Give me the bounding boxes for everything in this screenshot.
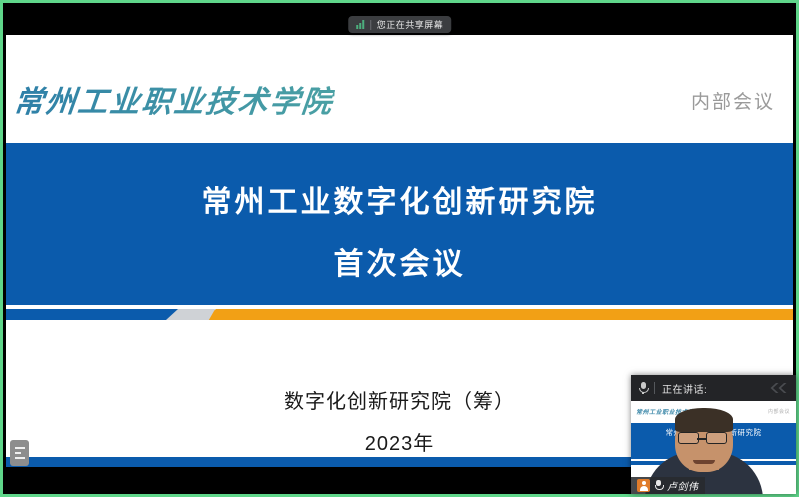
stripe-segment-blue: [6, 309, 178, 320]
decorative-stripe: [6, 309, 793, 320]
stripe-segment-orange: [202, 309, 793, 320]
annotation-panel-icon[interactable]: [10, 440, 29, 466]
participant-avatar-icon: [637, 479, 650, 492]
header-divider: [654, 382, 655, 394]
microphone-icon[interactable]: [655, 480, 662, 491]
thumbnail-meeting-tag: 内部会议: [768, 408, 790, 415]
slide-title: 常州工业数字化创新研究院: [6, 177, 793, 221]
toolbar-line-1: [15, 447, 25, 449]
slide-subtitle: 首次会议: [6, 239, 793, 283]
microphone-icon: [639, 382, 647, 394]
screen-share-status-text: 您正在共享屏幕: [377, 18, 444, 31]
slide-header: 常州工业职业技术学院 内部会议: [6, 35, 793, 140]
toolbar-line-3: [15, 457, 25, 459]
video-panel-header: 正在讲话:: [631, 375, 796, 401]
video-panel[interactable]: 正在讲话: 常州工业职业技术学院 内部会议 常州工业数字化创新研究院: [631, 375, 796, 494]
toolbar-line-2: [15, 452, 21, 454]
double-chevron-left-icon[interactable]: [768, 381, 790, 395]
shared-screen-frame: 常州工业职业技术学院 内部会议 常州工业数字化创新研究院 首次会议 数字化创新研…: [0, 0, 799, 497]
now-speaking-label: 正在讲话:: [662, 381, 707, 396]
speaker-name: 卢剑伟: [667, 478, 699, 493]
slide-title-band: 常州工业数字化创新研究院 首次会议: [6, 143, 793, 305]
speaker-video-thumbnail[interactable]: 常州工业职业技术学院 内部会议 常州工业数字化创新研究院: [631, 401, 796, 494]
meeting-tag-label: 内部会议: [691, 87, 775, 114]
screen-share-status-pill[interactable]: 您正在共享屏幕: [348, 16, 452, 33]
speaker-name-bar: 卢剑伟: [631, 477, 705, 494]
pill-divider: [370, 20, 371, 30]
school-logo: 常州工业职业技术学院: [12, 77, 337, 121]
signal-bars-icon: [356, 20, 364, 29]
